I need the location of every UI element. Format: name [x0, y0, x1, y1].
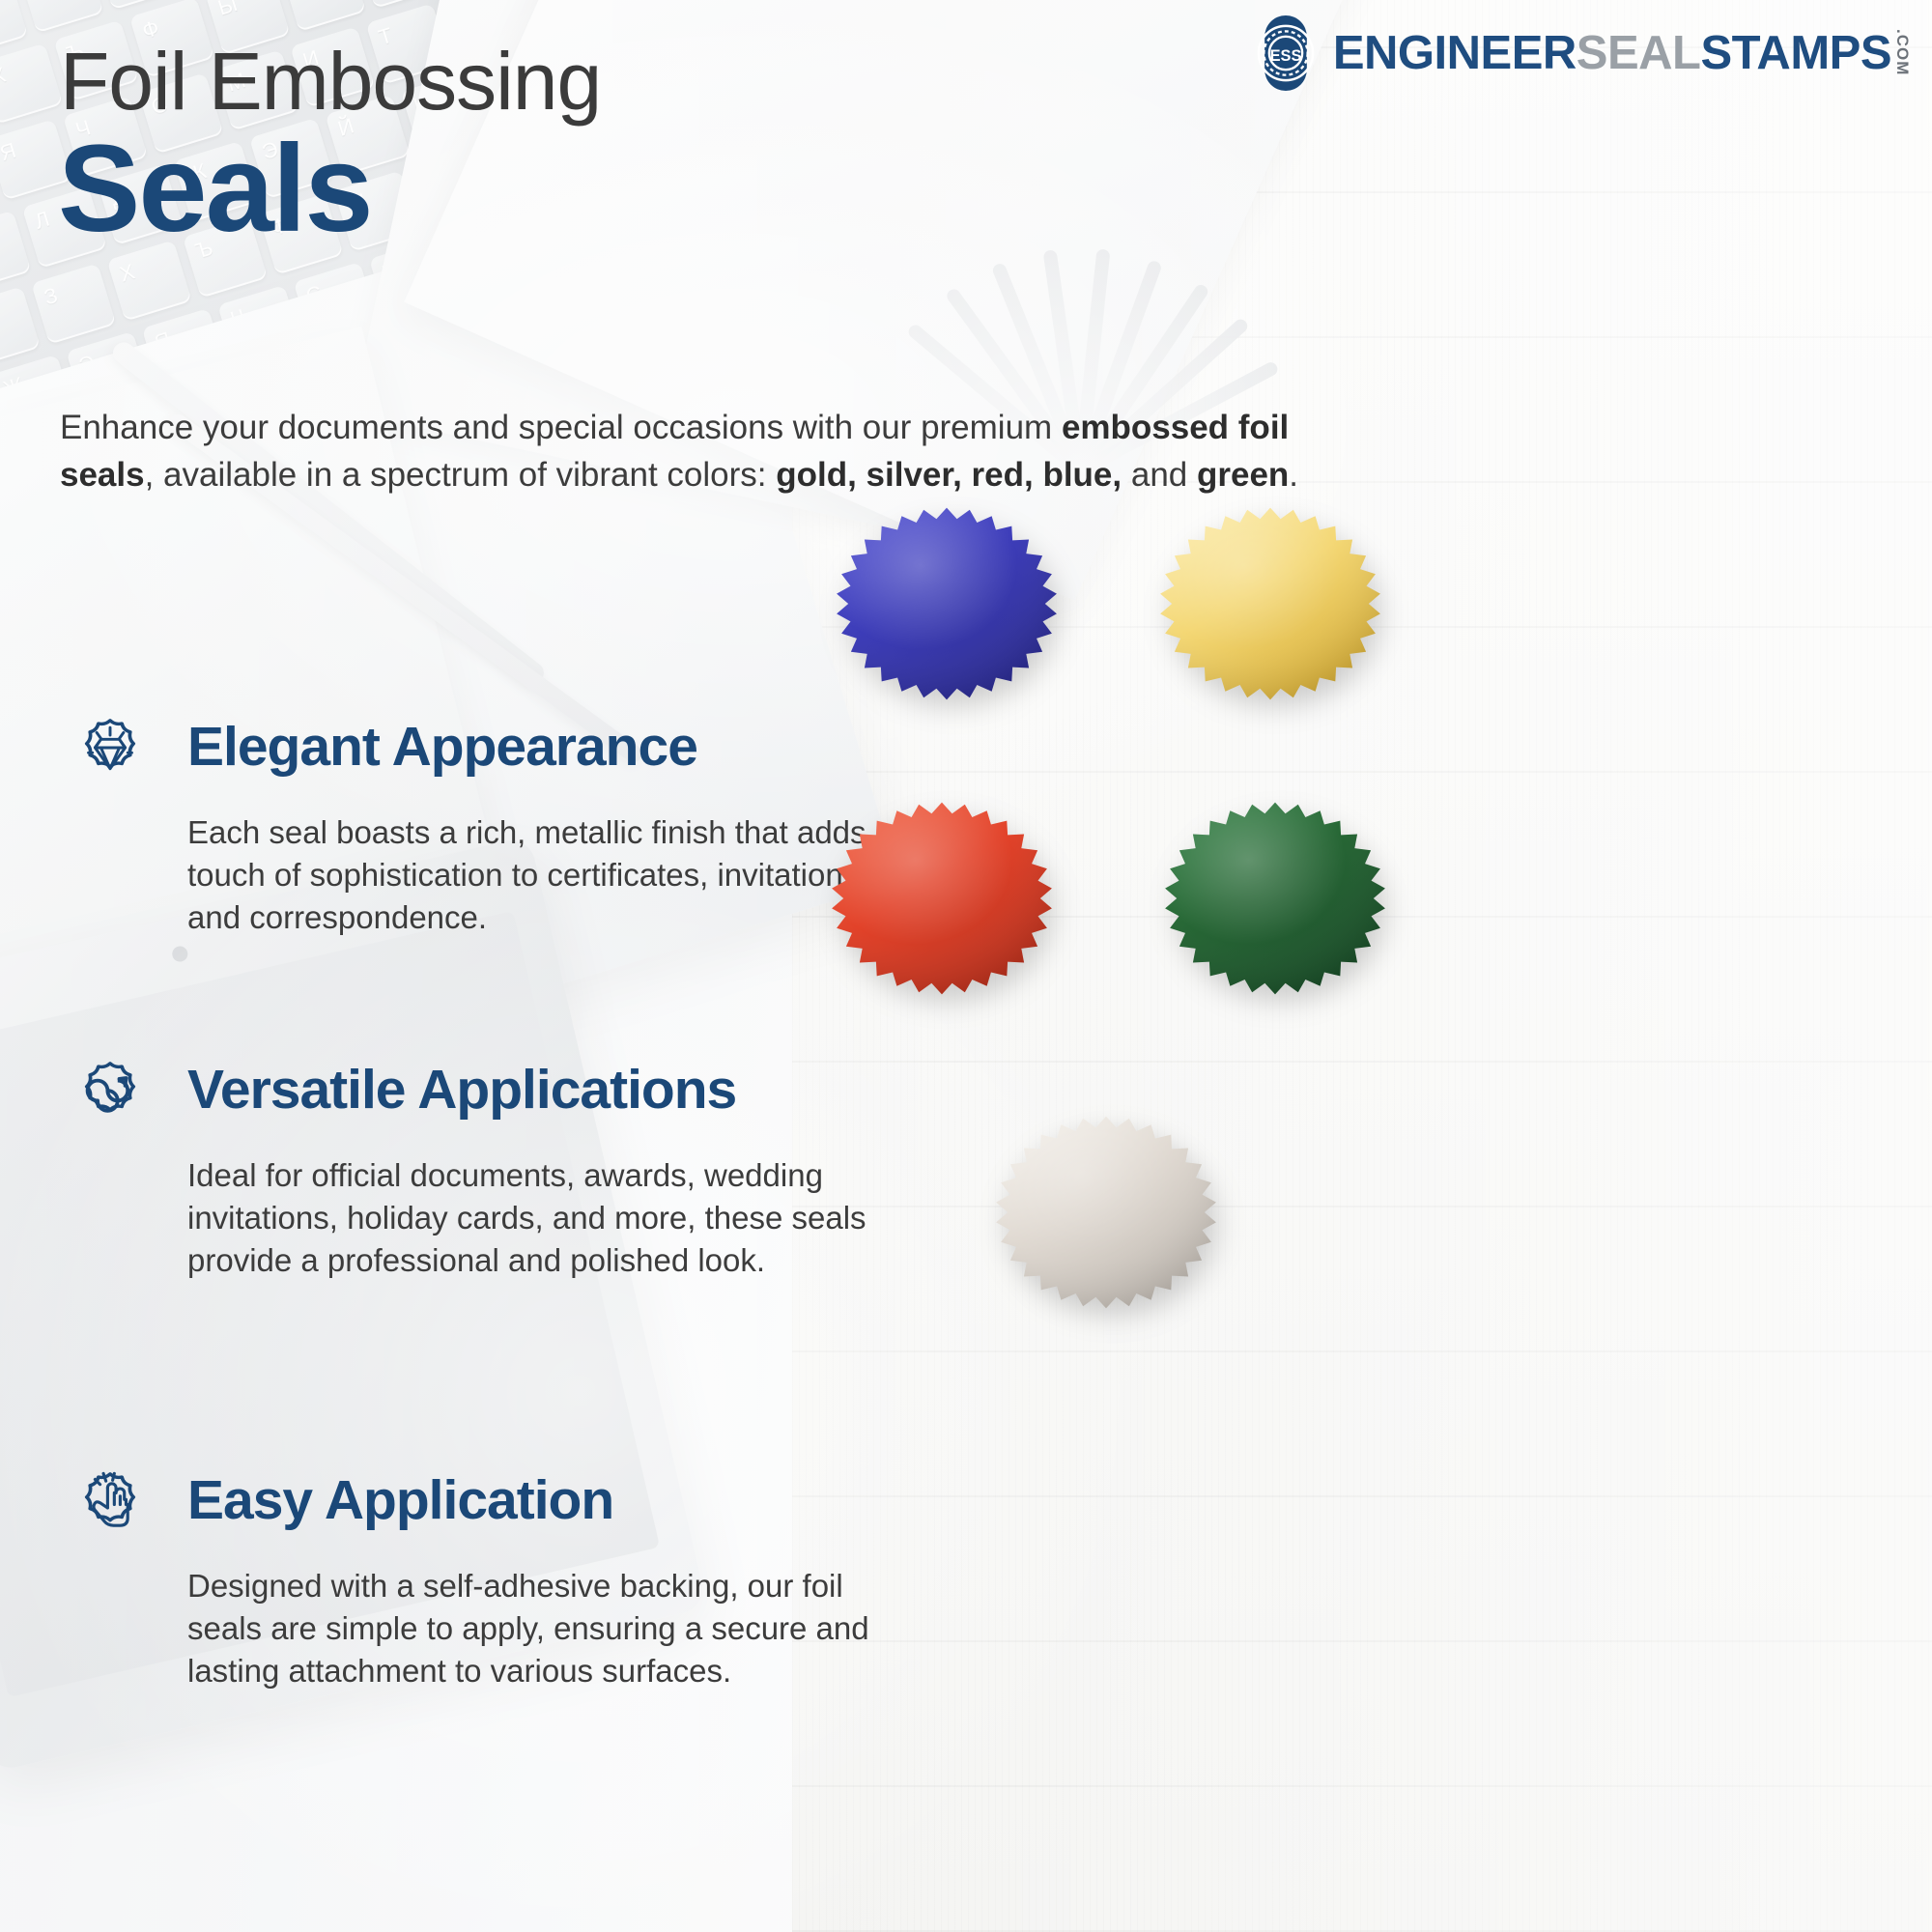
page-title-line2: Seals — [58, 128, 372, 251]
intro-text-2: , available in a spectrum of vibrant col… — [145, 456, 777, 494]
diamond-badge-icon — [60, 697, 160, 798]
feature-block-easy-application: Easy Application Designed with a self-ad… — [60, 1468, 910, 1692]
feature-title: Easy Application — [187, 1468, 613, 1528]
intro-bold-2: gold, silver, red, blue, — [776, 456, 1122, 494]
foreground-content: ESS ENGINEERSEALSTAMPS.COM Foil Embossin… — [0, 0, 1932, 1932]
page-title-line1: Foil Embossing — [60, 41, 601, 122]
intro-text-4: . — [1289, 456, 1298, 494]
intro-text-3: and — [1122, 456, 1197, 494]
feature-title: Elegant Appearance — [187, 715, 697, 775]
brand-logo-wordmark: ENGINEERSEALSTAMPS.COM — [1333, 29, 1911, 77]
infographic-canvas: КЛДЖЭЙЦУКЕНГШЩЗХЪФЫВАПРОЛДЖЭЯЧСМИТЬБЮАВС… — [0, 0, 1932, 1932]
feature-header: Versatile Applications — [60, 1058, 910, 1141]
foil-seal-red — [826, 797, 1159, 1087]
feature-block-versatile-applications: Versatile Applications Ideal for officia… — [60, 1058, 910, 1282]
foil-seal-gold — [1154, 502, 1488, 792]
feature-body: Ideal for official documents, awards, we… — [187, 1154, 907, 1282]
intro-paragraph: Enhance your documents and special occas… — [60, 404, 1345, 498]
feature-block-elegant-appearance: Elegant Appearance Each seal boasts a ri… — [60, 715, 910, 939]
intro-bold-3: green — [1197, 456, 1289, 494]
logo-word-seal: SEAL — [1577, 30, 1701, 77]
logo-word-engineer: ENGINEER — [1333, 30, 1577, 77]
logo-word-stamps: STAMPS — [1700, 30, 1891, 77]
feature-header: Easy Application — [60, 1468, 910, 1551]
svg-text:ESS: ESS — [1269, 47, 1301, 65]
infinity-loop-badge-icon — [60, 1040, 160, 1141]
intro-text-1: Enhance your documents and special occas… — [60, 409, 1062, 446]
foil-seal-silver — [990, 1111, 1323, 1401]
logo-word-tld: .COM — [1894, 29, 1911, 75]
tapping-hand-badge-icon — [60, 1451, 160, 1551]
feature-title: Versatile Applications — [187, 1058, 736, 1118]
feature-body: Each seal boasts a rich, metallic finish… — [187, 811, 907, 939]
feature-header: Elegant Appearance — [60, 715, 910, 798]
feature-body: Designed with a self-adhesive backing, o… — [187, 1565, 907, 1692]
brand-logo[interactable]: ESS ENGINEERSEALSTAMPS.COM — [1248, 15, 1911, 91]
foil-seal-blue — [831, 502, 1164, 792]
ess-gear-badge-icon: ESS — [1248, 15, 1323, 91]
foil-seal-green — [1159, 797, 1492, 1087]
